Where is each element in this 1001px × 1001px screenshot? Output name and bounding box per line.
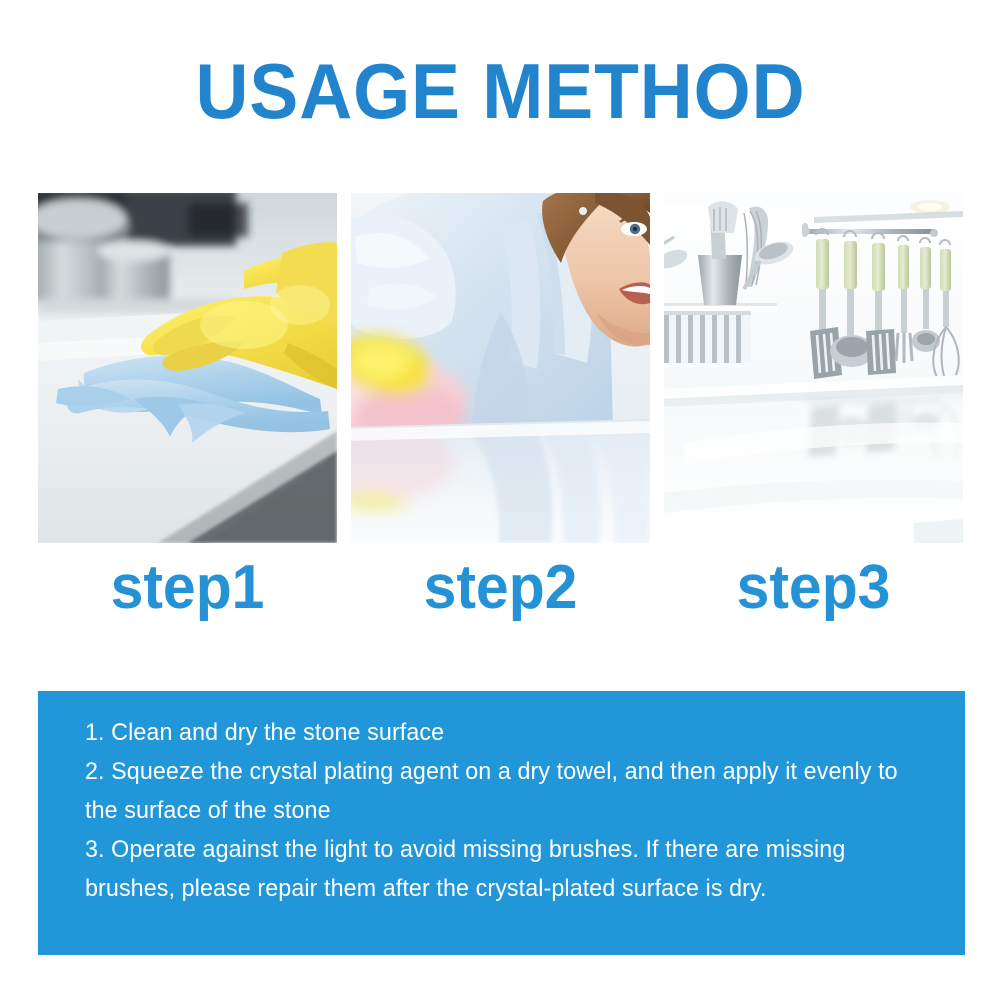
step-image-row: [38, 193, 963, 543]
step-label-3: step3: [671, 552, 955, 624]
step-2-photo: [351, 193, 650, 543]
page-title: USAGE METHOD: [30, 52, 971, 130]
step-3-photo: [664, 193, 963, 543]
instruction-line-1: 1. Clean and dry the stone surface: [85, 713, 898, 752]
step-label-row: step1 step2 step3: [38, 552, 963, 624]
instruction-line-2: 2. Squeeze the crystal plating agent on …: [85, 752, 898, 830]
step-label-1: step1: [45, 552, 329, 624]
step-label-2: step2: [358, 552, 642, 624]
usage-method-infographic: USAGE METHOD: [0, 0, 1001, 1001]
instructions-panel: 1. Clean and dry the stone surface 2. Sq…: [38, 691, 965, 955]
step-1-photo: [38, 193, 337, 543]
instruction-line-3: 3. Operate against the light to avoid mi…: [85, 830, 898, 908]
